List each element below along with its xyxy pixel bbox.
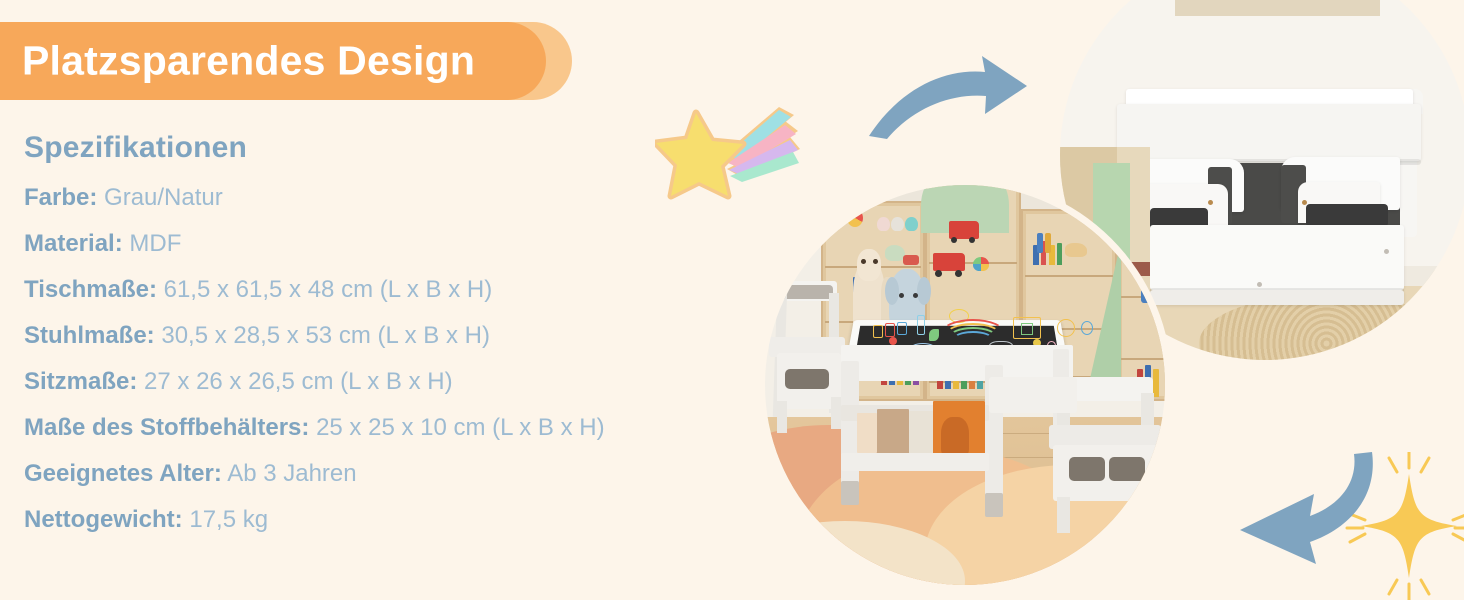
spec-value: 17,5 kg bbox=[189, 506, 268, 533]
spec-row: Nettogewicht: 17,5 kg bbox=[24, 497, 814, 543]
spec-row: Geeignetes Alter: Ab 3 Jahren bbox=[24, 451, 814, 497]
spec-label: Geeignetes Alter: bbox=[24, 460, 222, 487]
spec-row: Maße des Stoffbehälters: 25 x 25 x 10 cm… bbox=[24, 405, 814, 451]
spec-row: Stuhlmaße: 30,5 x 28,5 x 53 cm (L x B x … bbox=[24, 313, 814, 359]
spec-label: Farbe: bbox=[24, 184, 97, 211]
spec-label: Material: bbox=[24, 230, 123, 257]
product-infographic: { "banner": { "title": "Platzsparendes D… bbox=[0, 0, 1464, 600]
spec-row: Tischmaße: 61,5 x 61,5 x 48 cm (L x B x … bbox=[24, 267, 814, 313]
spec-value: 61,5 x 61,5 x 48 cm (L x B x H) bbox=[164, 276, 493, 303]
spec-value: 27 x 26 x 26,5 cm (L x B x H) bbox=[144, 368, 453, 395]
spec-label: Sitzmaße: bbox=[24, 368, 137, 395]
spec-label: Maße des Stoffbehälters: bbox=[24, 414, 309, 441]
header-banner: Platzsparendes Design bbox=[0, 22, 600, 100]
spec-label: Stuhlmaße: bbox=[24, 322, 155, 349]
spec-value: MDF bbox=[129, 230, 181, 257]
spec-value: Ab 3 Jahren bbox=[227, 460, 356, 487]
spec-row: Sitzmaße: 27 x 26 x 26,5 cm (L x B x H) bbox=[24, 359, 814, 405]
shooting-star-icon bbox=[655, 95, 810, 200]
spec-label: Tischmaße: bbox=[24, 276, 157, 303]
spec-label: Nettogewicht: bbox=[24, 506, 183, 533]
spec-value: Grau/Natur bbox=[104, 184, 223, 211]
page-title: Platzsparendes Design bbox=[22, 38, 475, 85]
arrow-down-left-icon bbox=[1222, 452, 1402, 577]
spec-row: Material: MDF bbox=[24, 221, 814, 267]
spec-value: 30,5 x 28,5 x 53 cm (L x B x H) bbox=[161, 322, 490, 349]
arrow-up-right-icon bbox=[865, 38, 1045, 148]
photo-playroom-table-set bbox=[765, 185, 1165, 585]
spec-value: 25 x 25 x 10 cm (L x B x H) bbox=[316, 414, 605, 441]
